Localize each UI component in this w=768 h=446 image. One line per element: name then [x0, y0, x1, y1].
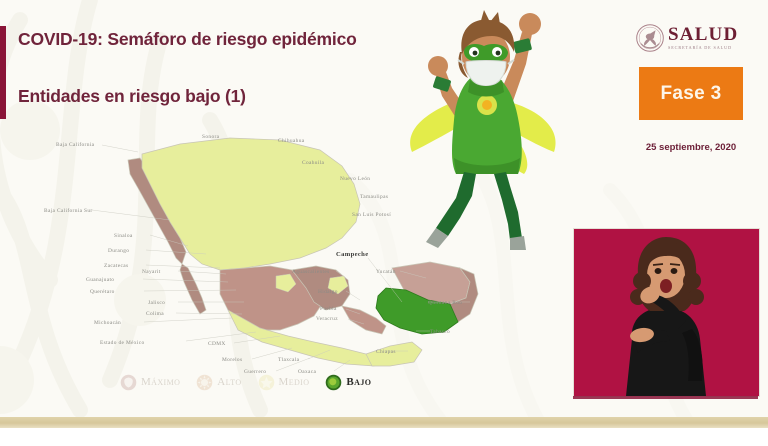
- circle-icon: [325, 374, 342, 391]
- legend-item-alto[interactable]: Alto: [196, 374, 241, 391]
- superhero-health-mascot: [398, 2, 582, 250]
- mascot-right-boot: [510, 236, 526, 250]
- state-label-san-luis-potosi: San Luis Potosí: [352, 212, 391, 218]
- state-label-campeche: Campeche: [336, 251, 368, 258]
- mascot-left-leg: [436, 172, 476, 236]
- slide-canvas: COVID-19: Semáforo de riesgo epidémico E…: [0, 0, 768, 446]
- state-label-veracruz: Veracruz: [316, 316, 338, 322]
- sign-language-interpreter: [573, 228, 760, 397]
- legend-item-maximo[interactable]: Máximo: [120, 374, 180, 391]
- salud-wordmark: SALUD: [668, 25, 738, 44]
- interpreter-curl-2: [683, 272, 701, 290]
- phase-badge: Fase 3: [639, 67, 743, 120]
- legend-item-medio[interactable]: Medio: [258, 374, 310, 391]
- state-label-nuevo-leon: Nuevo León: [340, 176, 370, 182]
- state-label-jalisco: Jalisco: [148, 300, 165, 306]
- interpreter-eye-right: [671, 268, 678, 274]
- legend-label-medio: Medio: [279, 376, 310, 388]
- mascot-pupil-left: [473, 51, 478, 56]
- state-label-baja-california-sur: Baja California Sur: [44, 207, 93, 214]
- state-label-coahuila: Coahuila: [302, 160, 325, 166]
- page-subtitle: Entidades en riesgo bajo (1): [18, 86, 246, 107]
- mascot-pupil-right: [496, 51, 501, 56]
- interpreter-eye-left: [655, 268, 662, 274]
- legend-label-maximo: Máximo: [141, 376, 180, 388]
- state-label-morelos: Morelos: [222, 357, 242, 363]
- mascot-right-cuff: [513, 38, 532, 54]
- state-label-nayarit: Nayarit: [142, 269, 161, 275]
- bottom-gold-band: [0, 417, 768, 428]
- state-label-yucatan: Yucatán: [376, 269, 396, 275]
- bottom-white-strip: [0, 428, 768, 446]
- state-label-queretaro: Querétaro: [90, 289, 115, 295]
- state-label-durango: Durango: [108, 248, 129, 254]
- state-label-hidalgo: Hidalgo: [318, 289, 338, 295]
- page-title: COVID-19: Semáforo de riesgo epidémico: [18, 29, 357, 50]
- legend-label-bajo: Bajo: [346, 376, 371, 388]
- state-label-zacatecas: Zacatecas: [104, 263, 128, 269]
- state-label-tabasco: Tabasco: [430, 329, 450, 335]
- star-icon: [258, 374, 275, 391]
- mascot-right-fist: [519, 13, 541, 35]
- state-label-chihuahua: Chihuahua: [278, 138, 305, 144]
- phase-date: 25 septiembre, 2020: [639, 142, 743, 153]
- state-label-michoacan: Michoacán: [94, 320, 121, 326]
- state-label-quintana-roo: Quintana Roo: [428, 300, 462, 306]
- state-label-tlaxcala: Tlaxcala: [278, 357, 300, 363]
- legend-label-alto: Alto: [217, 376, 241, 388]
- broadcast-strip: [573, 396, 758, 399]
- sun-icon: [196, 374, 213, 391]
- interpreter-mouth: [660, 279, 672, 293]
- left-accent-bar: [0, 26, 6, 119]
- mascot-left-fist: [428, 56, 448, 76]
- state-label-guanajuato: Guanajuato: [86, 277, 114, 283]
- risk-legend: Máximo Alto Medio: [120, 370, 450, 394]
- state-label-baja-california: Baja California: [56, 141, 95, 148]
- state-label-chiapas: Chiapas: [376, 349, 396, 355]
- shield-icon: [120, 374, 137, 391]
- state-label-cdmx: CDMX: [208, 341, 226, 347]
- mascot-chest-emblem-center: [482, 100, 492, 110]
- salud-subtitle: SECRETARÍA DE SALUD: [668, 46, 738, 50]
- mexico-seal-icon: [636, 24, 664, 52]
- state-label-estado-de-mexico: Estado de México: [100, 340, 145, 346]
- state-label-sonora: Sonora: [202, 134, 220, 140]
- state-label-sinaloa: Sinaloa: [114, 233, 133, 239]
- legend-item-bajo[interactable]: Bajo: [325, 374, 371, 391]
- mascot-right-leg: [494, 172, 522, 240]
- state-label-colima: Colima: [146, 311, 164, 317]
- phase-label: Fase 3: [661, 83, 722, 105]
- state-label-aguascalientes: Aguascalientes: [292, 269, 330, 275]
- salud-logo: SALUD SECRETARÍA DE SALUD: [636, 21, 754, 55]
- state-label-tamaulipas: Tamaulipas: [360, 194, 388, 200]
- interpreter-curl-4: [688, 289, 704, 305]
- state-label-puebla: Puebla: [320, 306, 337, 312]
